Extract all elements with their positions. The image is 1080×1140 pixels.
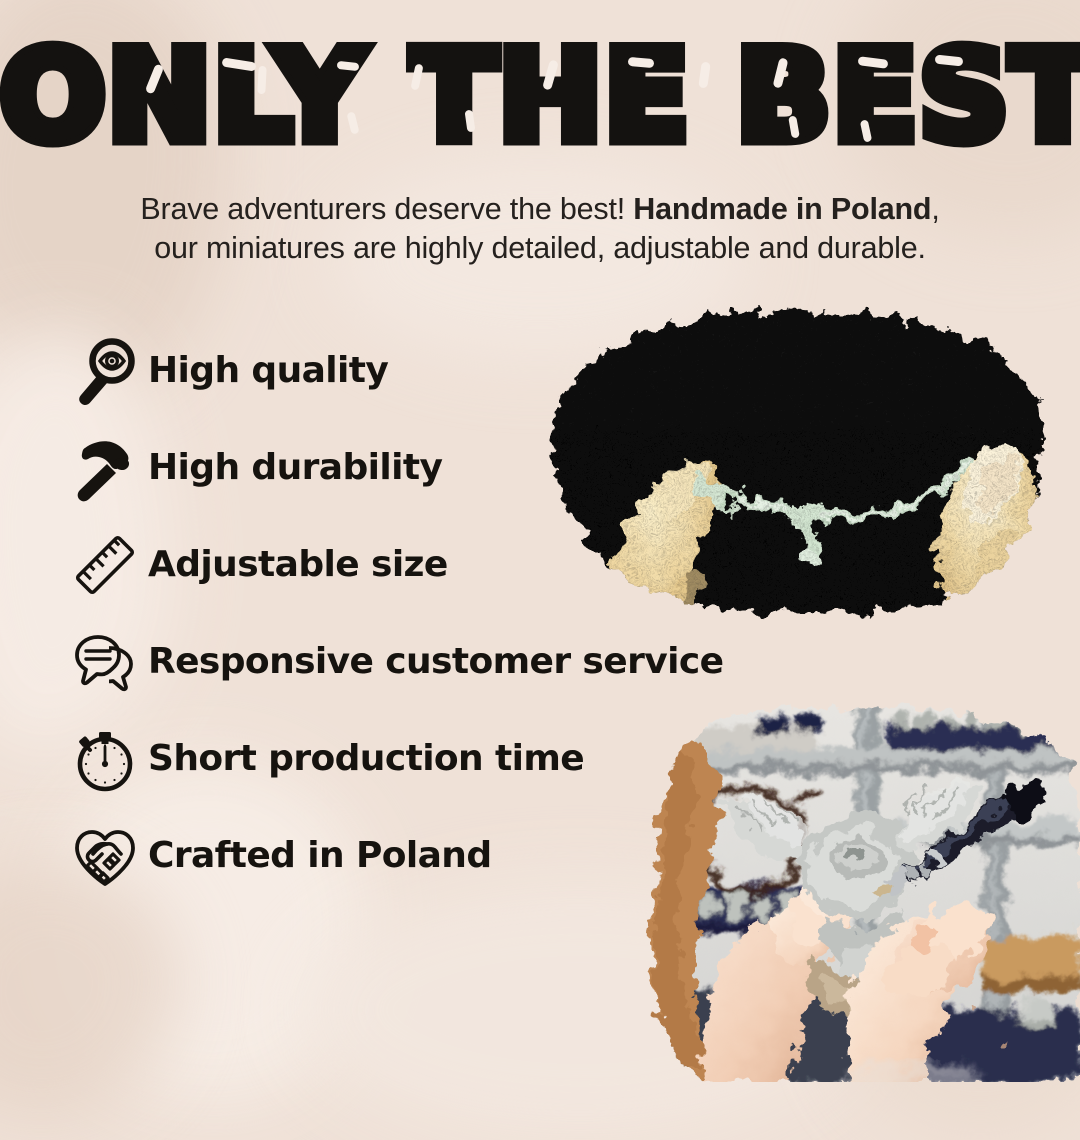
feature-label: Crafted in Poland bbox=[148, 835, 492, 876]
stopwatch-icon bbox=[62, 723, 148, 795]
feature-item-adjustable-size: Adjustable size bbox=[62, 516, 782, 613]
feature-list: High quality High durability bbox=[62, 322, 782, 904]
feature-item-high-durability: High durability bbox=[62, 419, 782, 516]
handshake-heart-icon bbox=[62, 820, 148, 892]
feature-item-crafted-in-poland: Crafted in Poland bbox=[62, 807, 782, 904]
feature-item-short-production-time: Short production time bbox=[62, 710, 782, 807]
subtitle-line-1-bold: Handmade in Poland bbox=[633, 192, 931, 226]
feature-item-high-quality: High quality bbox=[62, 322, 782, 419]
subtitle-line-1-suffix: , bbox=[931, 192, 939, 226]
feature-label: High durability bbox=[148, 447, 442, 488]
feature-label: High quality bbox=[148, 350, 388, 391]
feature-label: Short production time bbox=[148, 738, 584, 779]
subtitle: Brave adventurers deserve the best! Hand… bbox=[0, 190, 1080, 268]
ruler-icon bbox=[62, 529, 148, 601]
feature-item-responsive-customer-service: Responsive customer service bbox=[62, 613, 782, 710]
hammer-icon bbox=[62, 432, 148, 504]
magnifier-eye-icon bbox=[62, 335, 148, 407]
page-title: ONLY THE BEST bbox=[0, 34, 1080, 160]
subtitle-line-1-prefix: Brave adventurers deserve the best! bbox=[140, 192, 633, 226]
page-title-container: ONLY THE BEST bbox=[0, 34, 1080, 160]
subtitle-line-1: Brave adventurers deserve the best! Hand… bbox=[0, 190, 1080, 229]
speech-bubbles-icon bbox=[62, 626, 148, 698]
feature-label: Responsive customer service bbox=[148, 641, 723, 682]
subtitle-line-2: our miniatures are highly detailed, adju… bbox=[0, 229, 1080, 268]
feature-label: Adjustable size bbox=[148, 544, 448, 585]
